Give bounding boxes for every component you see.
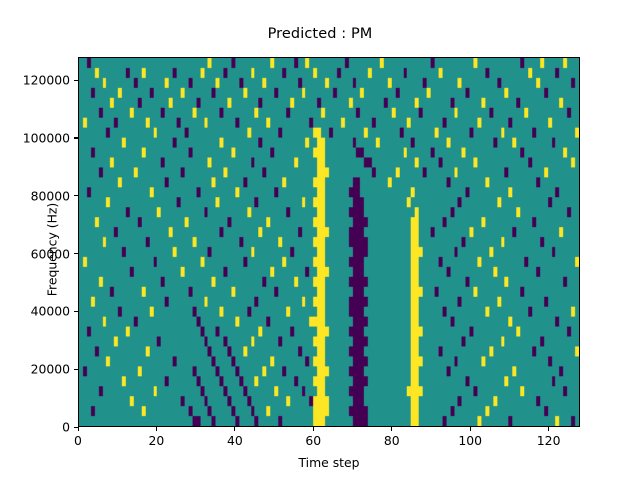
y-tick-mark (74, 195, 78, 196)
x-tick-mark (313, 427, 314, 431)
y-tick-mark (74, 311, 78, 312)
x-tick-mark (548, 427, 549, 431)
heatmap-image[interactable] (79, 58, 579, 426)
x-tick-label: 20 (149, 433, 165, 448)
y-tick-label: 120000 (0, 73, 70, 88)
y-tick-label: 20000 (0, 362, 70, 377)
y-tick-label: 100000 (0, 130, 70, 145)
y-tick-mark (74, 369, 78, 370)
x-tick-label: 100 (458, 433, 482, 448)
x-tick-mark (391, 427, 392, 431)
x-tick-mark (156, 427, 157, 431)
y-tick-label: 40000 (0, 304, 70, 319)
heatmap-axes[interactable] (78, 57, 580, 427)
x-tick-mark (470, 427, 471, 431)
x-tick-label: 120 (537, 433, 561, 448)
y-tick-mark (74, 427, 78, 428)
y-tick-label: 60000 (0, 246, 70, 261)
y-tick-mark (74, 80, 78, 81)
figure-canvas: Predicted : PM 020406080100120 020000400… (0, 0, 640, 480)
x-tick-label: 40 (227, 433, 243, 448)
y-tick-mark (74, 253, 78, 254)
page-title: Predicted : PM (0, 26, 640, 42)
y-tick-label: 0 (0, 420, 70, 435)
y-tick-mark (74, 137, 78, 138)
y-tick-label: 80000 (0, 188, 70, 203)
x-axis-label: Time step (78, 455, 580, 470)
x-tick-label: 0 (74, 433, 82, 448)
x-tick-mark (234, 427, 235, 431)
x-tick-label: 80 (384, 433, 400, 448)
x-tick-label: 60 (305, 433, 321, 448)
y-axis-label: Frequency (Hz) (45, 120, 60, 380)
